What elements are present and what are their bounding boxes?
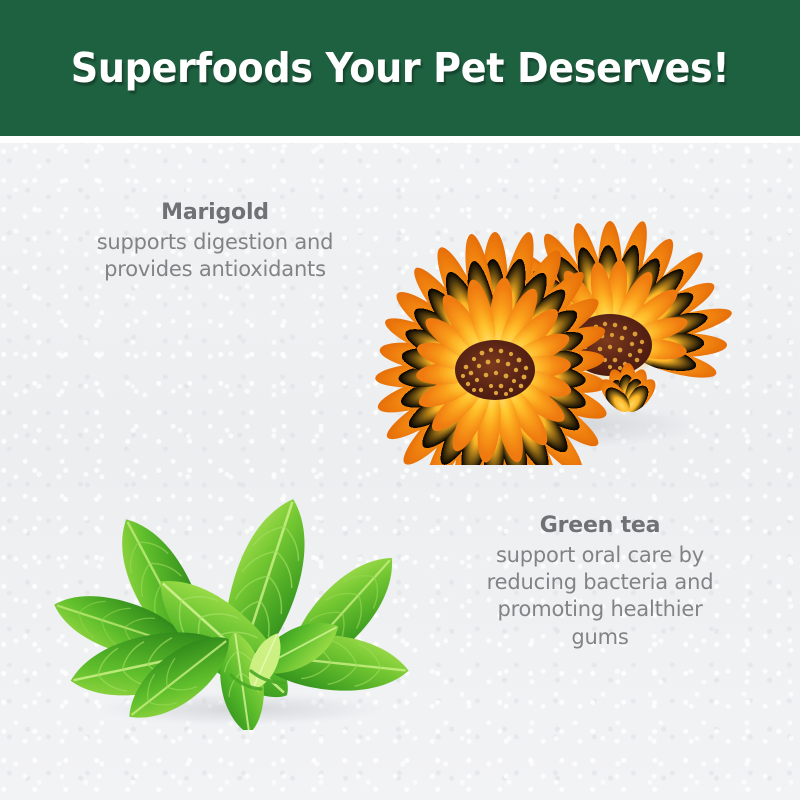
marigold-text-block: Marigold supports digestion and provides… bbox=[20, 199, 410, 283]
marigold-heading: Marigold bbox=[20, 199, 410, 227]
marigold-description: supports digestion and provides antioxid… bbox=[20, 229, 410, 284]
header-banner: Superfoods Your Pet Deserves! bbox=[0, 0, 800, 136]
green-tea-heading: Green tea bbox=[405, 512, 795, 540]
green-tea-description: support oral care by reducing bacteria a… bbox=[405, 542, 795, 651]
green-tea-text-block: Green tea support oral care by reducing … bbox=[405, 512, 795, 651]
header-underline-divider bbox=[0, 136, 800, 143]
marigold-flowers-photo bbox=[360, 215, 750, 465]
green-tea-leaves-photo bbox=[35, 485, 435, 730]
infographic-canvas: Superfoods Your Pet Deserves! Marigold s… bbox=[0, 0, 800, 800]
page-title: Superfoods Your Pet Deserves! bbox=[71, 48, 730, 89]
